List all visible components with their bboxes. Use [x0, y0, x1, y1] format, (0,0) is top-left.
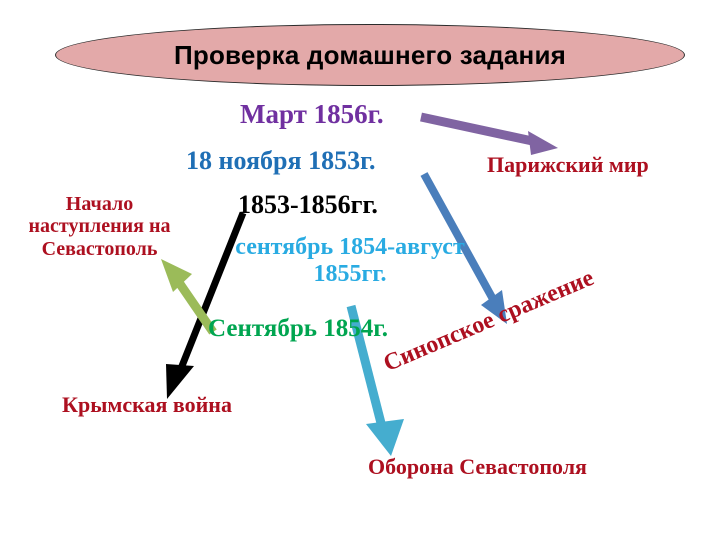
event-label-oborona-sevastopolya: Оборона Севастополя [368, 455, 587, 480]
event-label-nastuplenie-sevastopol: Начало наступления на Севастополь [12, 193, 187, 260]
event-label-krymskaya-voyna: Крымская война [62, 393, 232, 418]
date-label-nov-18-1853: 18 ноября 1853г. [186, 146, 375, 175]
event-label-parizhskiy-mir: Парижский мир [487, 153, 649, 178]
date-label-years-1853-1856: 1853-1856гг. [238, 190, 378, 219]
page-title: Проверка домашнего задания [55, 24, 685, 86]
date-label-march-1856: Март 1856г. [240, 99, 384, 129]
date-label-sep-1854-aug-1855: сентябрь 1854-август 1855гг. [225, 234, 475, 288]
arrow-sep54-to-nastuplenie [161, 259, 213, 332]
slide-canvas: Проверка домашнего задания Март 18 [0, 0, 720, 540]
date-label-sep-1854: Сентябрь 1854г. [208, 315, 388, 343]
arrow-march-to-parizh [421, 117, 558, 155]
